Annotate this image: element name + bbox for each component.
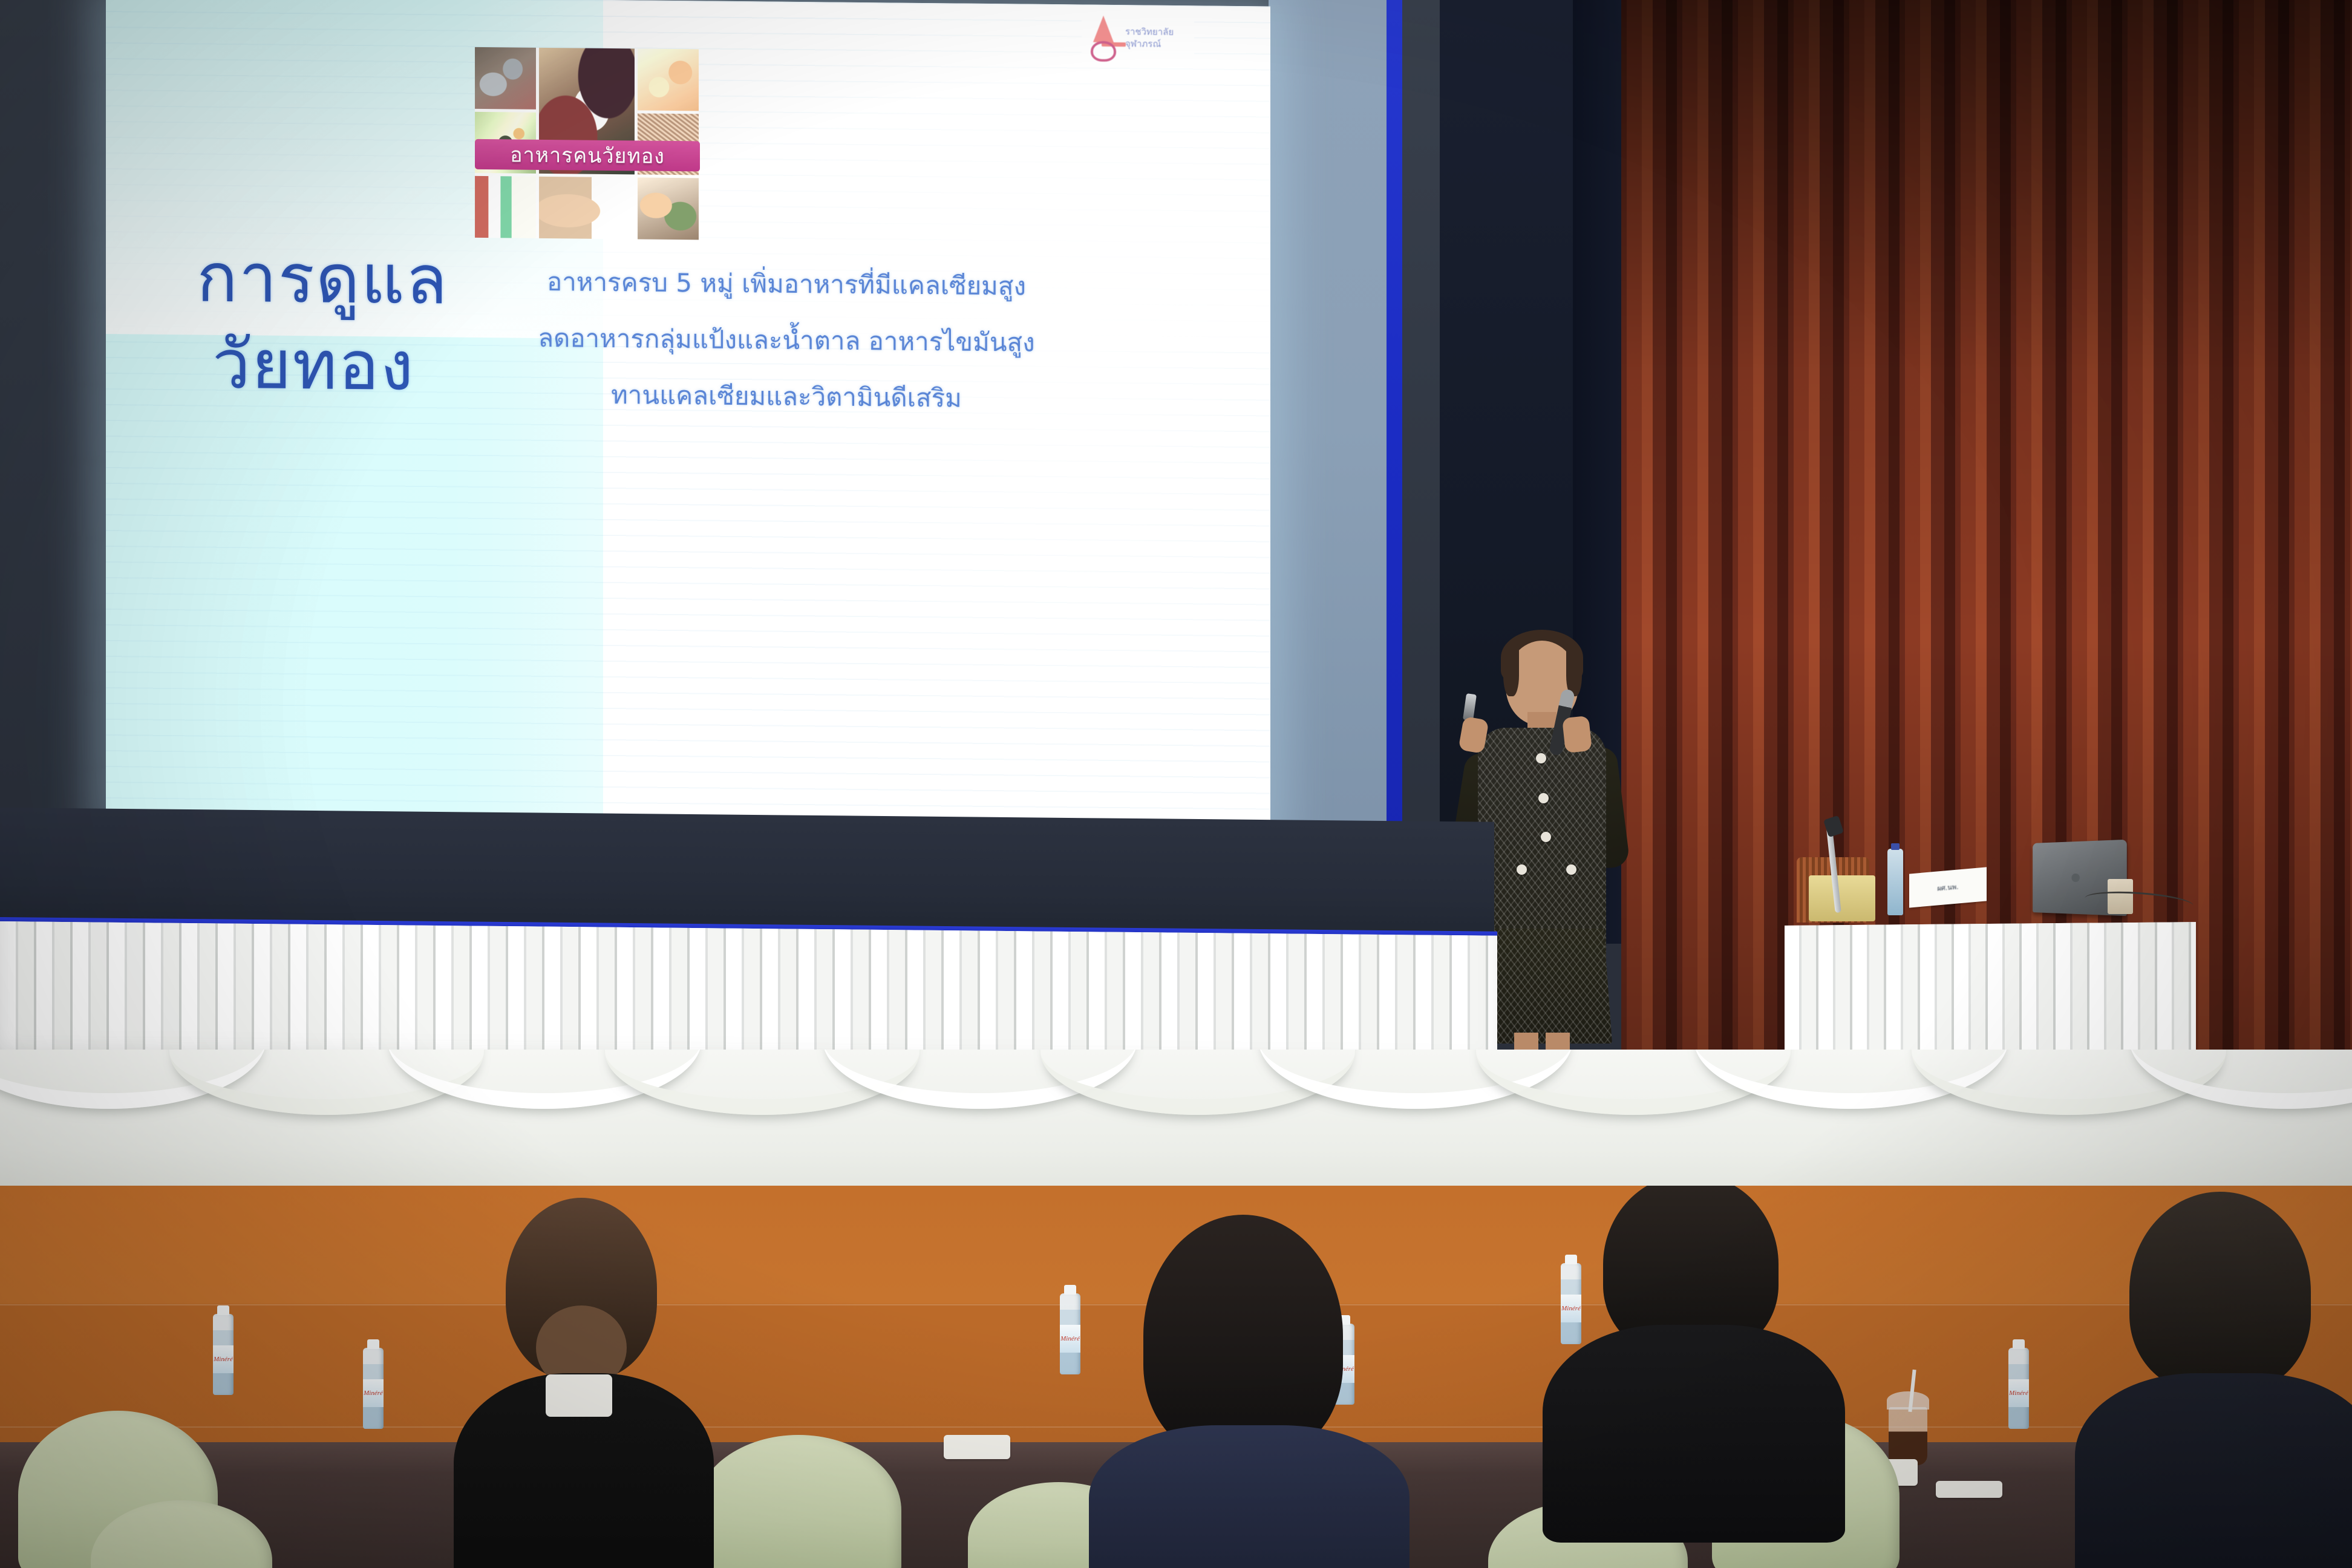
napkin xyxy=(1936,1481,2002,1498)
slide-body-line-2: ลดอาหารกลุ่มแป้งและน้ำตาล อาหารไขมันสูง xyxy=(445,309,1128,372)
collage-cell-tofu xyxy=(638,48,699,111)
water-bottle: Minéré xyxy=(213,1314,234,1395)
bottle-label: Minéré xyxy=(1060,1325,1080,1353)
collage-cell-juices xyxy=(475,176,536,238)
bottle-label: Minéré xyxy=(363,1379,384,1407)
person-shoulders xyxy=(2075,1373,2352,1568)
iced-coffee-cup xyxy=(1889,1407,1927,1465)
audience-area: Minéré Minéré Minéré Minéré Minéré Minér… xyxy=(0,1186,2352,1568)
person-collar xyxy=(546,1374,612,1417)
collage-cell-bean-bowl xyxy=(539,177,634,239)
collage-cell-bean-glass-bowls xyxy=(638,178,699,240)
collage-banner: อาหารคนวัยทอง xyxy=(475,139,700,172)
slide-body-line-1: อาหารครบ 5 หมู่ เพิ่มอาหารที่มีแคลเซียมส… xyxy=(445,252,1128,315)
water-bottle: Minéré xyxy=(363,1348,384,1429)
dress-button xyxy=(1517,864,1527,875)
dress-button xyxy=(1541,832,1551,842)
person-hair-bob xyxy=(1143,1215,1343,1457)
bottle-label: Minéré xyxy=(213,1345,234,1373)
institution-logo: ราชวิทยาลัย จุฬาภรณ์ xyxy=(1082,8,1194,67)
logo-text-line2: จุฬาภรณ์ xyxy=(1125,38,1174,50)
pagoda-heart-icon xyxy=(1086,13,1120,62)
slide-body-line-3: ทานแคลเซียมและวิตามินดีเสริม xyxy=(445,365,1128,428)
chair-seat-cushion xyxy=(1809,875,1875,921)
water-bottle: Minéré xyxy=(2008,1348,2029,1429)
logo-text-line1: ราชวิทยาลัย xyxy=(1125,25,1174,38)
wall-blue-strip xyxy=(1387,0,1402,859)
slide-body-text: อาหารครบ 5 หมู่ เพิ่มอาหารที่มีแคลเซียมส… xyxy=(445,252,1128,428)
audience-person xyxy=(1555,1186,1809,1543)
presenter-hair-right xyxy=(1566,644,1582,696)
person-shoulders xyxy=(1543,1325,1845,1543)
presentation-photo-scene: ราชวิทยาลัย จุฬาภรณ์ การดูแล วัยทอง อาหา… xyxy=(0,0,2352,1568)
presenter-hair-left xyxy=(1503,644,1519,696)
dress-button xyxy=(1566,864,1576,875)
dress-button xyxy=(1538,793,1549,803)
person-shoulders xyxy=(1089,1425,1410,1568)
collage-cell-grilled-fish xyxy=(475,47,536,109)
wall-panel-gray xyxy=(1269,0,1387,847)
presenter-right-hand xyxy=(1562,716,1592,753)
bottle-label: Minéré xyxy=(2008,1379,2029,1407)
logo-text: ราชวิทยาลัย จุฬาภรณ์ xyxy=(1125,25,1174,50)
name-card: ผศ.นพ. xyxy=(1909,867,1987,907)
water-bottle: Minéré xyxy=(1060,1293,1080,1374)
napkin xyxy=(944,1435,1010,1459)
audience-person xyxy=(460,1198,702,1568)
audience-person xyxy=(1107,1215,1385,1568)
projection-screen: ราชวิทยาลัย จุฬาภรณ์ การดูแล วัยทอง อาหา… xyxy=(106,0,1270,834)
person-hair-short xyxy=(2129,1192,2311,1391)
dress-button xyxy=(1536,753,1546,763)
table-water-bottle xyxy=(1887,849,1903,915)
name-card-text: ผศ.นพ. xyxy=(1937,881,1958,893)
audience-person xyxy=(2093,1192,2352,1568)
